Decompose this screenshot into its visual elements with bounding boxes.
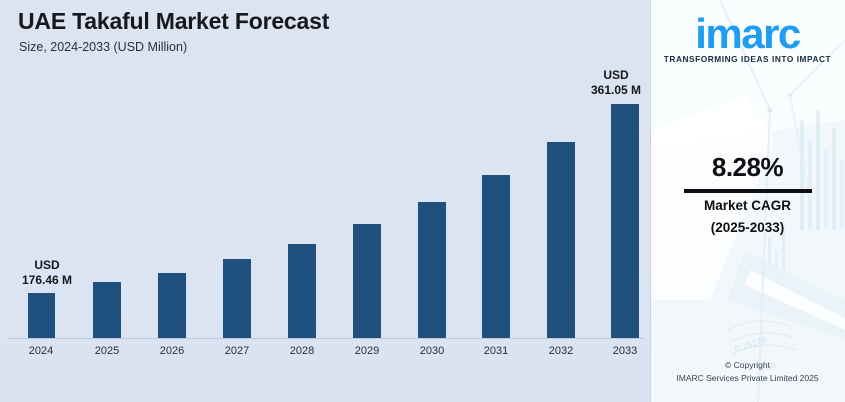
bar-2030[interactable] [418,202,446,338]
x-tick-2029: 2029 [337,345,397,357]
x-tick-2031: 2031 [466,345,526,357]
last-value-amount: 361.05 M [576,83,656,98]
x-tick-2033: 2033 [595,345,655,357]
copyright-line-2: IMARC Services Private Limited 2025 [650,373,845,383]
x-tick-2024: 2024 [11,345,71,357]
bar-2028[interactable] [288,244,316,338]
x-tick-2026: 2026 [142,345,202,357]
first-value-currency: USD [12,258,82,273]
first-value-label: USD 176.46 M [12,258,82,288]
bar-2027[interactable] [223,259,251,338]
last-value-currency: USD [576,68,656,83]
x-tick-2028: 2028 [272,345,332,357]
bar-2031[interactable] [482,175,510,338]
logo-tagline: TRANSFORMING IDEAS INTO IMPACT [650,54,845,64]
imarc-logo: imarc TRANSFORMING IDEAS INTO IMPACT [650,12,845,64]
brand-panel: 0.15178 768 imarc TRANSFORMING IDEAS INT… [650,0,845,402]
infographic-root: UAE Takaful Market Forecast Size, 2024-2… [0,0,845,402]
x-tick-2032: 2032 [531,345,591,357]
logo-wordmark: imarc [650,12,845,56]
copyright-line-1: © Copyright [650,360,845,370]
bar-2025[interactable] [93,282,121,338]
x-tick-2030: 2030 [402,345,462,357]
bar-2026[interactable] [158,273,186,338]
x-axis-line [8,338,644,339]
bar-2032[interactable] [547,142,575,338]
bar-chart-plot: USD 176.46 M USD 361.05 M 2024 2025 2026… [0,0,650,402]
first-value-amount: 176.46 M [12,273,82,288]
cagr-value: 8.28% [650,152,845,183]
cagr-period: (2025-2033) [650,220,845,235]
cagr-label: Market CAGR [650,198,845,213]
bar-2024[interactable] [28,293,55,338]
cagr-divider [684,189,812,193]
x-tick-2027: 2027 [207,345,267,357]
bar-2033[interactable] [611,104,639,338]
chart-panel: UAE Takaful Market Forecast Size, 2024-2… [0,0,650,402]
last-value-label: USD 361.05 M [576,68,656,98]
x-tick-2025: 2025 [77,345,137,357]
bar-2029[interactable] [353,224,381,338]
